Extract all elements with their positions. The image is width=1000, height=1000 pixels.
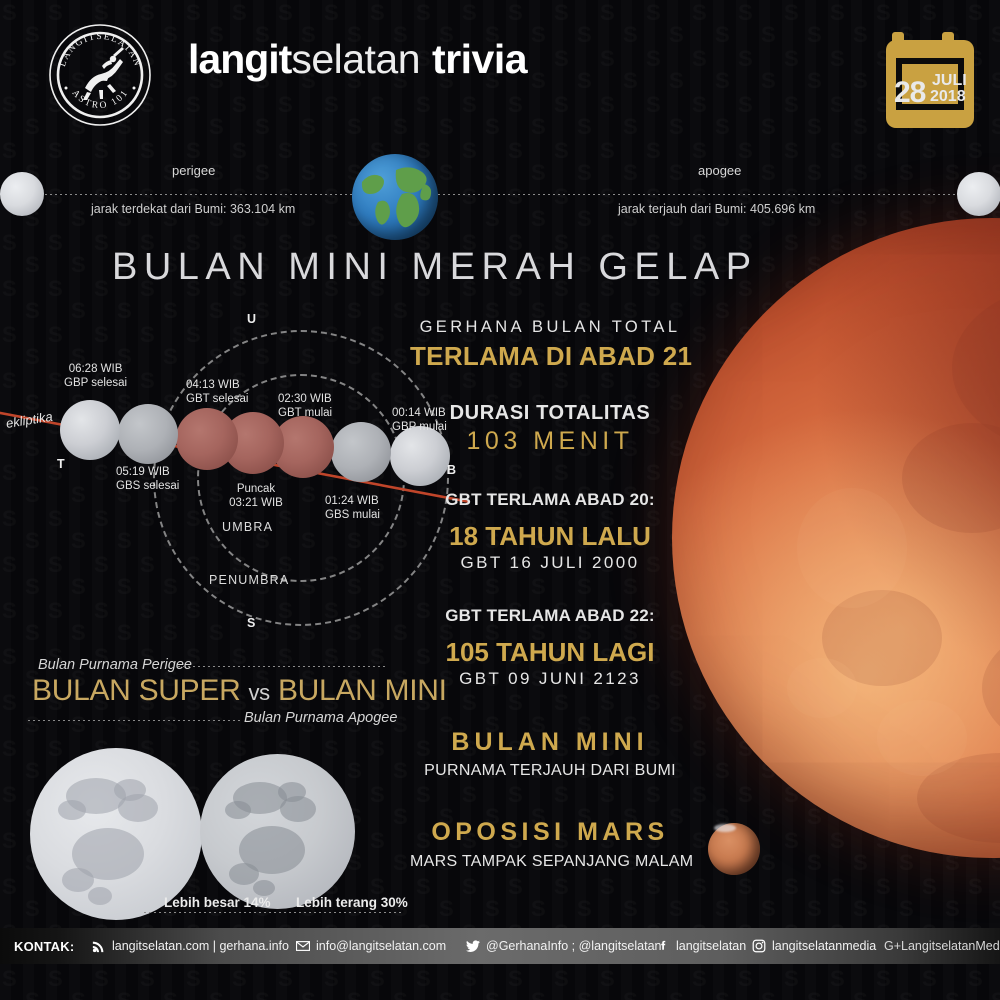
compare-dotline-top xyxy=(173,666,388,667)
peak-label: Puncak xyxy=(237,483,275,495)
calendar-year: 2018 xyxy=(930,88,966,106)
compare-title-right: BULAN MINI xyxy=(278,674,447,707)
century20-date: GBT 16 JULI 2000 xyxy=(410,553,690,573)
rss-icon xyxy=(92,939,106,953)
footer-item-twitter[interactable]: @GerhanaInfo ; @langitselatan xyxy=(466,939,661,953)
twitter-icon xyxy=(466,939,480,953)
footer-item-email[interactable]: info@langitselatan.com xyxy=(296,939,446,953)
compare-title-vs: vs xyxy=(248,680,269,705)
mars-planet-icon xyxy=(708,823,760,875)
apogee-moon-icon xyxy=(957,172,1000,216)
brand-part-trivia: trivia xyxy=(432,36,527,82)
footer-item-facebook[interactable]: langitselatan xyxy=(656,939,746,953)
logo-centaur-glyph xyxy=(83,47,124,100)
footer-item-label: langitselatanmedia xyxy=(772,939,876,953)
duration-label: DURASI TOTALITAS xyxy=(410,402,690,425)
century20-label: GBT TERLAMA ABAD 20: xyxy=(410,490,690,510)
fact-headline-gold: TERLAMA DI ABAD 21 xyxy=(410,341,690,372)
footer-contact-bar: KONTAK: langitselatan.com | gerhana.info… xyxy=(0,928,1000,964)
footer-item-googleplus[interactable]: G+LangitselatanMedia xyxy=(884,939,1000,953)
moon-phase-gbt-selesai xyxy=(176,408,238,470)
earth-icon xyxy=(352,154,438,240)
event-time: 04:13 WIB xyxy=(186,379,240,391)
event-name: GBP selesai xyxy=(64,377,127,389)
event-time: 06:28 WIB xyxy=(69,363,123,375)
event-name: GBS mulai xyxy=(325,509,380,521)
brand-title: langitselatantrivia xyxy=(188,34,527,84)
logo-outer-text: LANGITSELATAN xyxy=(58,32,142,69)
mars-polar-cap xyxy=(714,824,736,832)
peak-label-group: Puncak 03:21 WIB xyxy=(226,482,286,510)
umbra-label: UMBRA xyxy=(222,520,273,534)
minimoon-disc xyxy=(200,754,355,909)
event-name: GBT mulai xyxy=(278,407,332,419)
apogee-dotted-line xyxy=(438,194,963,195)
event-name: GBS selesai xyxy=(116,480,179,492)
minimoon-sub: PURNAMA TERJAUH DARI BUMI xyxy=(410,762,690,780)
footer-item-label: langitselatan xyxy=(676,939,746,953)
infographic-poster: S S xyxy=(0,0,1000,1000)
footer-item-label: info@langitselatan.com xyxy=(316,939,446,953)
envelope-icon xyxy=(296,939,310,953)
compare-caption-bottom: Bulan Purnama Apogee xyxy=(244,710,397,726)
footer-item-label: @GerhanaInfo ; @langitselatan xyxy=(486,939,661,953)
minimoon-maria xyxy=(200,754,355,909)
brand-part-selatan: selatan xyxy=(291,36,420,82)
instagram-icon xyxy=(752,939,766,953)
compare-title: BULAN SUPER vs BULAN MINI xyxy=(32,674,447,708)
eclipse-path-diagram: ekliptika U S T B 06:28 WIB GBP selesai … xyxy=(0,300,470,650)
perigee-moon-icon xyxy=(0,172,44,216)
calendar-badge: 28 JULI 2018 xyxy=(884,28,976,132)
century22-date: GBT 09 JUNI 2123 xyxy=(410,669,690,689)
moon-phase-gbs-selesai xyxy=(118,404,178,464)
penumbra-label: PENUMBRA xyxy=(209,573,289,587)
footer-item-label: G+LangitselatanMedia xyxy=(884,939,1000,953)
header: LANGITSELATAN ASTRO 101 langitselatantri… xyxy=(0,0,1000,150)
badge-size: Lebih besar 14% xyxy=(164,895,271,910)
event-time: 01:24 WIB xyxy=(325,495,379,507)
century22-label: GBT TERLAMA ABAD 22: xyxy=(410,606,690,626)
cardinal-east: B xyxy=(447,463,456,477)
supermoon-comparison-section: Bulan Purnama Perigee BULAN SUPER vs BUL… xyxy=(0,650,420,940)
brand-part-langit: langit xyxy=(188,36,291,82)
century22-value: 105 TAHUN LAGI xyxy=(410,637,690,668)
fact-headline-small: GERHANA BULAN TOTAL xyxy=(410,318,690,337)
event-gbs-selesai: 05:19 WIB GBS selesai xyxy=(116,465,179,493)
langitselatan-logo: LANGITSELATAN ASTRO 101 xyxy=(47,22,153,128)
badge-dotline xyxy=(144,912,402,913)
compare-dotline-bottom xyxy=(28,720,243,721)
peak-time: 03:21 WIB xyxy=(229,497,283,509)
footer-kontak-label: KONTAK: xyxy=(14,939,74,954)
event-time: 05:19 WIB xyxy=(116,466,170,478)
page-title: BULAN MINI MERAH GELAP xyxy=(112,246,758,289)
facebook-icon xyxy=(656,939,670,953)
calendar-day: 28 xyxy=(894,76,925,110)
event-gbt-mulai: 02:30 WIB GBT mulai xyxy=(278,392,332,420)
event-name: GBT selesai xyxy=(186,393,248,405)
event-time: 02:30 WIB xyxy=(278,393,332,405)
footer-item-label: langitselatan.com | gerhana.info xyxy=(112,939,289,953)
footer-item-instagram[interactable]: langitselatanmedia xyxy=(752,939,876,953)
minimoon-title: BULAN MINI xyxy=(410,728,690,757)
cardinal-north: U xyxy=(247,312,256,326)
perigee-sub: jarak terdekat dari Bumi: 363.104 km xyxy=(91,202,295,216)
compare-caption-top: Bulan Purnama Perigee xyxy=(38,657,192,673)
badge-bright: Lebih terang 30% xyxy=(296,895,408,910)
event-gbs-mulai: 01:24 WIB GBS mulai xyxy=(325,494,380,522)
earth-continents xyxy=(352,154,438,240)
moon-phase-gbp-selesai xyxy=(60,400,120,460)
cardinal-south: S xyxy=(247,616,255,630)
century20-value: 18 TAHUN LALU xyxy=(410,521,690,552)
event-gbp-selesai: 06:28 WIB GBP selesai xyxy=(64,362,127,390)
apogee-sub: jarak terjauh dari Bumi: 405.696 km xyxy=(618,202,815,216)
mars-title: OPOSISI MARS xyxy=(410,818,690,847)
perigee-label: perigee xyxy=(172,163,215,178)
compare-title-left: BULAN SUPER xyxy=(32,674,240,707)
apogee-label: apogee xyxy=(698,163,741,178)
perigee-dotted-line xyxy=(0,194,352,195)
mars-sub: MARS TAMPAK SEPANJANG MALAM xyxy=(410,853,690,871)
svg-text:LANGITSELATAN: LANGITSELATAN xyxy=(58,32,142,69)
cardinal-west: T xyxy=(57,457,65,471)
moon-phase-gbs-mulai xyxy=(331,422,391,482)
footer-item-website[interactable]: langitselatan.com | gerhana.info xyxy=(92,939,289,953)
event-gbt-selesai: 04:13 WIB GBT selesai xyxy=(186,378,248,406)
duration-value: 103 MENIT xyxy=(410,427,690,456)
